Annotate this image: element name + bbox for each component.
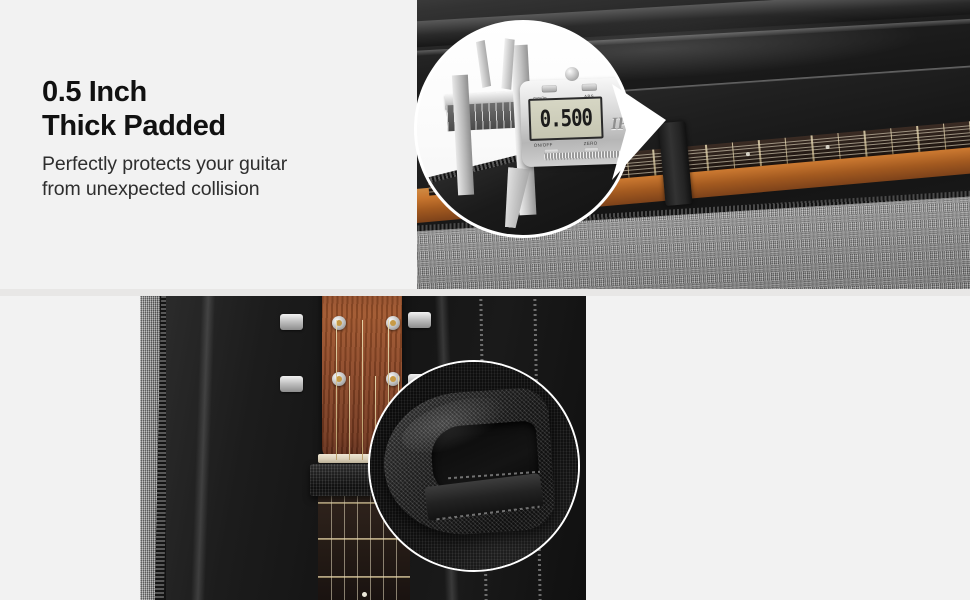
tuner-post-left-2 <box>332 372 346 386</box>
guitar-string <box>331 492 332 600</box>
tuner-button-left-2 <box>280 376 303 392</box>
closeup-inset-velcro-strap <box>368 360 580 572</box>
infographic-page: 0.500 mm/in ABS ON/OFF ZERO IP54 0.5 Inc… <box>0 0 970 600</box>
guitar-string <box>357 492 358 600</box>
guitar-string-headstock <box>336 320 337 460</box>
headline-thick-padded: 0.5 Inch Thick Padded <box>42 76 392 143</box>
tuner-button-left-1 <box>280 314 303 330</box>
caliper-label-mm-in: mm/in <box>533 95 547 100</box>
feature-panel-thick-padded: 0.500 mm/in ABS ON/OFF ZERO IP54 0.5 Inc… <box>0 0 970 289</box>
closeup-inset-caliper: 0.500 mm/in ABS ON/OFF ZERO IP54 <box>417 23 629 235</box>
guitar-string-headstock <box>349 376 350 460</box>
feature-panel-velcro-neckstrap: Velcro NeckStrap Protecting the neck of … <box>0 296 970 600</box>
guitar-string <box>344 492 345 600</box>
pointer-arrow-top <box>612 84 670 185</box>
caliper-button-right <box>582 84 597 92</box>
tuner-post-left-1 <box>332 316 346 330</box>
caliper-button-left <box>542 85 557 93</box>
section-divider <box>0 289 970 296</box>
subtext-thick-padded: Perfectly protects your guitar from unex… <box>42 152 392 202</box>
fret-inlay-dot <box>825 145 829 149</box>
text-block-thick-padded: 0.5 Inch Thick Padded Perfectly protects… <box>42 76 392 202</box>
caliper-label-zero: ZERO <box>584 141 598 146</box>
caliper-label-abs: ABS <box>584 94 594 99</box>
caliper-reading-value: 0.500 <box>539 104 592 133</box>
guitar-string-headstock <box>362 320 363 460</box>
caliper-lcd-screen: 0.500 <box>528 96 603 141</box>
tuner-button-right-1 <box>408 312 431 328</box>
fret-inlay-dot <box>362 592 367 597</box>
caliper-label-onoff: ON/OFF <box>534 142 553 148</box>
